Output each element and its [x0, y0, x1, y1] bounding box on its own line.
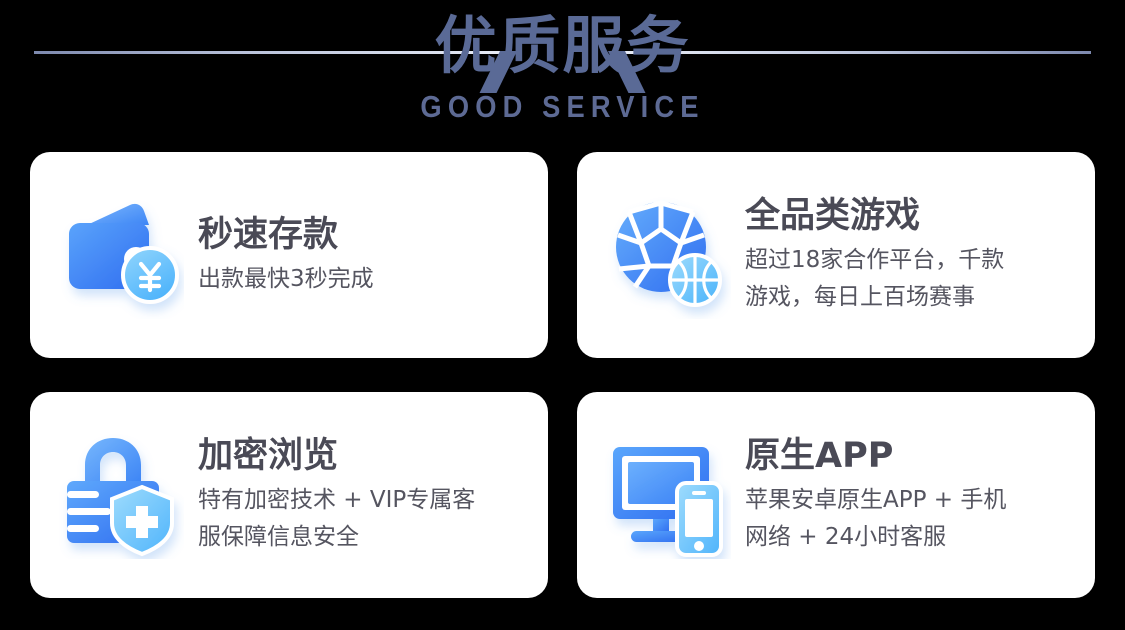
feature-card-encryption[interactable]: 加密浏览 特有加密技术 + VIP专属客 服保障信息安全	[30, 392, 548, 598]
card-description-line: 超过18家合作平台，千款	[745, 242, 1081, 279]
feature-card-games[interactable]: 全品类游戏 超过18家合作平台，千款 游戏，每日上百场赛事	[577, 152, 1095, 358]
page-header: 优质服务 GOOD SERVICE	[0, 0, 1125, 148]
header-title-group: 优质服务 GOOD SERVICE	[0, 8, 1125, 126]
card-description: 特有加密技术 + VIP专属客 服保障信息安全	[198, 482, 534, 556]
card-title: 原生APP	[745, 434, 1081, 478]
card-title: 秒速存款	[198, 213, 534, 257]
card-title: 加密浏览	[198, 434, 534, 478]
card-description: 超过18家合作平台，千款 游戏，每日上百场赛事	[745, 242, 1081, 316]
feature-card-grid: 秒速存款 出款最快3秒完成	[30, 152, 1095, 598]
monitor-phone-icon	[603, 431, 731, 559]
feature-card-native-app[interactable]: 原生APP 苹果安卓原生APP + 手机 网络 + 24小时客服	[577, 392, 1095, 598]
page-subtitle: GOOD SERVICE	[68, 88, 1058, 126]
card-description-line: 网络 + 24小时客服	[745, 519, 1081, 556]
card-description-line: 出款最快3秒完成	[198, 261, 534, 298]
card-text-block: 加密浏览 特有加密技术 + VIP专属客 服保障信息安全	[198, 434, 534, 556]
card-description-line: 游戏，每日上百场赛事	[745, 279, 1081, 316]
card-description-line: 服保障信息安全	[198, 519, 534, 556]
card-title: 全品类游戏	[745, 194, 1081, 238]
card-description-line: 苹果安卓原生APP + 手机	[745, 482, 1081, 519]
card-text-block: 秒速存款 出款最快3秒完成	[198, 213, 534, 298]
lock-shield-icon	[56, 431, 184, 559]
card-description: 出款最快3秒完成	[198, 261, 534, 298]
wallet-coin-icon	[56, 191, 184, 319]
card-text-block: 全品类游戏 超过18家合作平台，千款 游戏，每日上百场赛事	[745, 194, 1081, 316]
card-description-line: 特有加密技术 + VIP专属客	[198, 482, 534, 519]
soccer-basketball-icon	[603, 191, 731, 319]
card-description: 苹果安卓原生APP + 手机 网络 + 24小时客服	[745, 482, 1081, 556]
card-text-block: 原生APP 苹果安卓原生APP + 手机 网络 + 24小时客服	[745, 434, 1081, 556]
feature-card-deposit[interactable]: 秒速存款 出款最快3秒完成	[30, 152, 548, 358]
page-title: 优质服务	[0, 8, 1125, 84]
